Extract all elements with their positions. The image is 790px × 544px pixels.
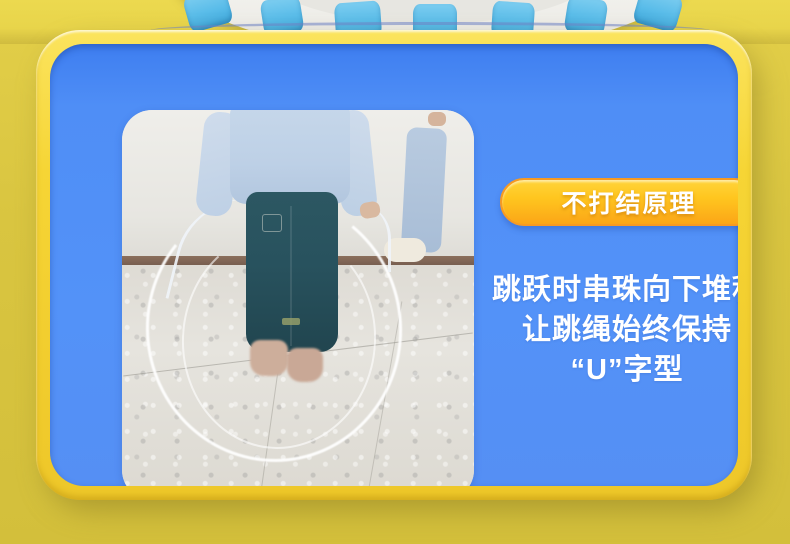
jumper-jeans [246,192,338,352]
blue-content-panel: 不打结原理 跳跃时串珠向下堆积 让跳绳始终保持 “U”字型 [50,44,738,486]
text-column: 不打结原理 跳跃时串珠向下堆积 让跳绳始终保持 “U”字型 [482,110,738,486]
feature-caption: 跳跃时串珠向下堆积 让跳绳始终保持 “U”字型 [482,270,738,390]
bystander-hand [428,112,446,126]
bystander-leg [401,127,447,253]
caption-line-3: “U”字型 [482,350,738,390]
jumping-rope-photo [122,110,474,486]
jumper-left-foot [250,340,288,376]
promo-card-stage: 不打结原理 跳跃时串珠向下堆积 让跳绳始终保持 “U”字型 [0,0,790,544]
jumper-right-foot [287,348,323,382]
jumper-shirt [230,110,350,204]
caption-line-2: 让跳绳始终保持 [482,310,738,350]
feature-badge-pill: 不打结原理 [500,178,738,226]
feature-badge: 不打结原理 [500,178,738,228]
feature-badge-label: 不打结原理 [561,184,696,220]
jeans-seam [290,206,292,346]
caption-line-1: 跳跃时串珠向下堆积 [482,270,738,310]
jeans-label [282,318,300,325]
jeans-pocket [262,214,282,232]
